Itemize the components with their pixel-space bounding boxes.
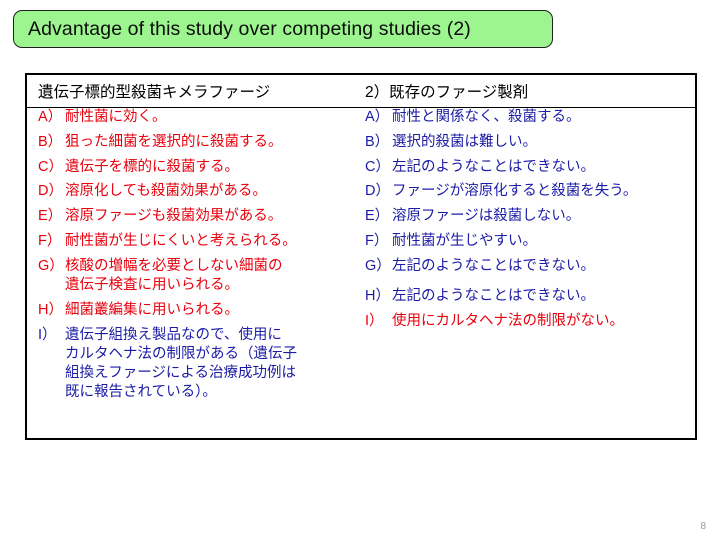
- row-text: 選択的殺菌は難しい。: [392, 133, 695, 152]
- row-text: 耐性菌に効く。: [65, 108, 368, 127]
- table-row: H）左記のようなことはできない。: [365, 287, 695, 306]
- row-marker: A）: [38, 108, 65, 127]
- row-marker: H）: [38, 301, 65, 320]
- table-row: G）核酸の増幅を必要としない細菌の 遺伝子検査に用いられる。: [38, 257, 368, 296]
- row-marker: E）: [38, 207, 65, 226]
- table-row: A）耐性と関係なく、殺菌する。: [365, 108, 695, 127]
- table-row: E）溶原ファージは殺菌しない。: [365, 207, 695, 226]
- comparison-table: 遺伝子標的型殺菌キメラファージ 2）既存のファージ製剤 A）耐性菌に効く。B）狙…: [25, 73, 697, 440]
- row-marker: F）: [365, 232, 392, 251]
- row-text: 左記のようなことはできない。: [392, 287, 695, 306]
- table-body: A）耐性菌に効く。B）狙った細菌を選択的に殺菌する。C）遺伝子を標的に殺菌する。…: [27, 108, 695, 441]
- table-header-left: 遺伝子標的型殺菌キメラファージ: [38, 80, 270, 102]
- row-text: 溶原化しても殺菌効果がある。: [65, 182, 368, 201]
- table-row: F）耐性菌が生じにくいと考えられる。: [38, 232, 368, 251]
- row-marker: H）: [365, 287, 392, 306]
- table-row: C）遺伝子を標的に殺菌する。: [38, 158, 368, 177]
- table-row: D）ファージが溶原化すると殺菌を失う。: [365, 182, 695, 201]
- row-text: ファージが溶原化すると殺菌を失う。: [392, 182, 695, 201]
- table-header-row: 遺伝子標的型殺菌キメラファージ 2）既存のファージ製剤: [27, 75, 695, 108]
- row-text: 使用にカルタヘナ法の制限がない。: [392, 312, 695, 331]
- row-text: 遺伝子を標的に殺菌する。: [65, 158, 368, 177]
- table-column-left: A）耐性菌に効く。B）狙った細菌を選択的に殺菌する。C）遺伝子を標的に殺菌する。…: [38, 108, 368, 408]
- table-row: I）遺伝子組換え製品なので、使用に カルタヘナ法の制限がある（遺伝子 組換えファ…: [38, 326, 368, 403]
- row-text: 狙った細菌を選択的に殺菌する。: [65, 133, 368, 152]
- row-marker: G）: [365, 257, 392, 276]
- row-text: 溶原ファージは殺菌しない。: [392, 207, 695, 226]
- row-text: 細菌叢編集に用いられる。: [65, 301, 368, 320]
- slide-title-banner: Advantage of this study over competing s…: [13, 10, 553, 48]
- table-row: E）溶原ファージも殺菌効果がある。: [38, 207, 368, 226]
- table-row: D）溶原化しても殺菌効果がある。: [38, 182, 368, 201]
- row-text: 耐性菌が生じにくいと考えられる。: [65, 232, 368, 251]
- table-row: F）耐性菌が生じやすい。: [365, 232, 695, 251]
- table-header-right: 2）既存のファージ製剤: [365, 80, 528, 102]
- row-marker: C）: [365, 158, 392, 177]
- table-row: B）選択的殺菌は難しい。: [365, 133, 695, 152]
- table-row: C）左記のようなことはできない。: [365, 158, 695, 177]
- row-marker: I）: [365, 312, 392, 331]
- row-marker: E）: [365, 207, 392, 226]
- row-text: 左記のようなことはできない。: [392, 158, 695, 177]
- row-marker: C）: [38, 158, 65, 177]
- row-marker: D）: [38, 182, 65, 201]
- row-marker: F）: [38, 232, 65, 251]
- table-column-right: A）耐性と関係なく、殺菌する。B）選択的殺菌は難しい。C）左記のようなことはでき…: [365, 108, 695, 337]
- row-text: 耐性菌が生じやすい。: [392, 232, 695, 251]
- row-marker: D）: [365, 182, 392, 201]
- table-row: A）耐性菌に効く。: [38, 108, 368, 127]
- table-row: H）細菌叢編集に用いられる。: [38, 301, 368, 320]
- row-marker: I）: [38, 326, 65, 345]
- row-marker: A）: [365, 108, 392, 127]
- table-row: I）使用にカルタヘナ法の制限がない。: [365, 312, 695, 331]
- page-title: Advantage of this study over competing s…: [28, 18, 471, 41]
- table-row: G）左記のようなことはできない。: [365, 257, 695, 276]
- page-number: 8: [700, 521, 706, 532]
- row-marker: B）: [365, 133, 392, 152]
- row-text: 耐性と関係なく、殺菌する。: [392, 108, 695, 127]
- table-row: B）狙った細菌を選択的に殺菌する。: [38, 133, 368, 152]
- row-marker: G）: [38, 257, 65, 276]
- row-text: 遺伝子組換え製品なので、使用に カルタヘナ法の制限がある（遺伝子 組換えファージ…: [65, 326, 368, 403]
- row-marker: B）: [38, 133, 65, 152]
- row-text: 溶原ファージも殺菌効果がある。: [65, 207, 368, 226]
- row-text: 核酸の増幅を必要としない細菌の 遺伝子検査に用いられる。: [65, 257, 368, 296]
- row-text: 左記のようなことはできない。: [392, 257, 695, 276]
